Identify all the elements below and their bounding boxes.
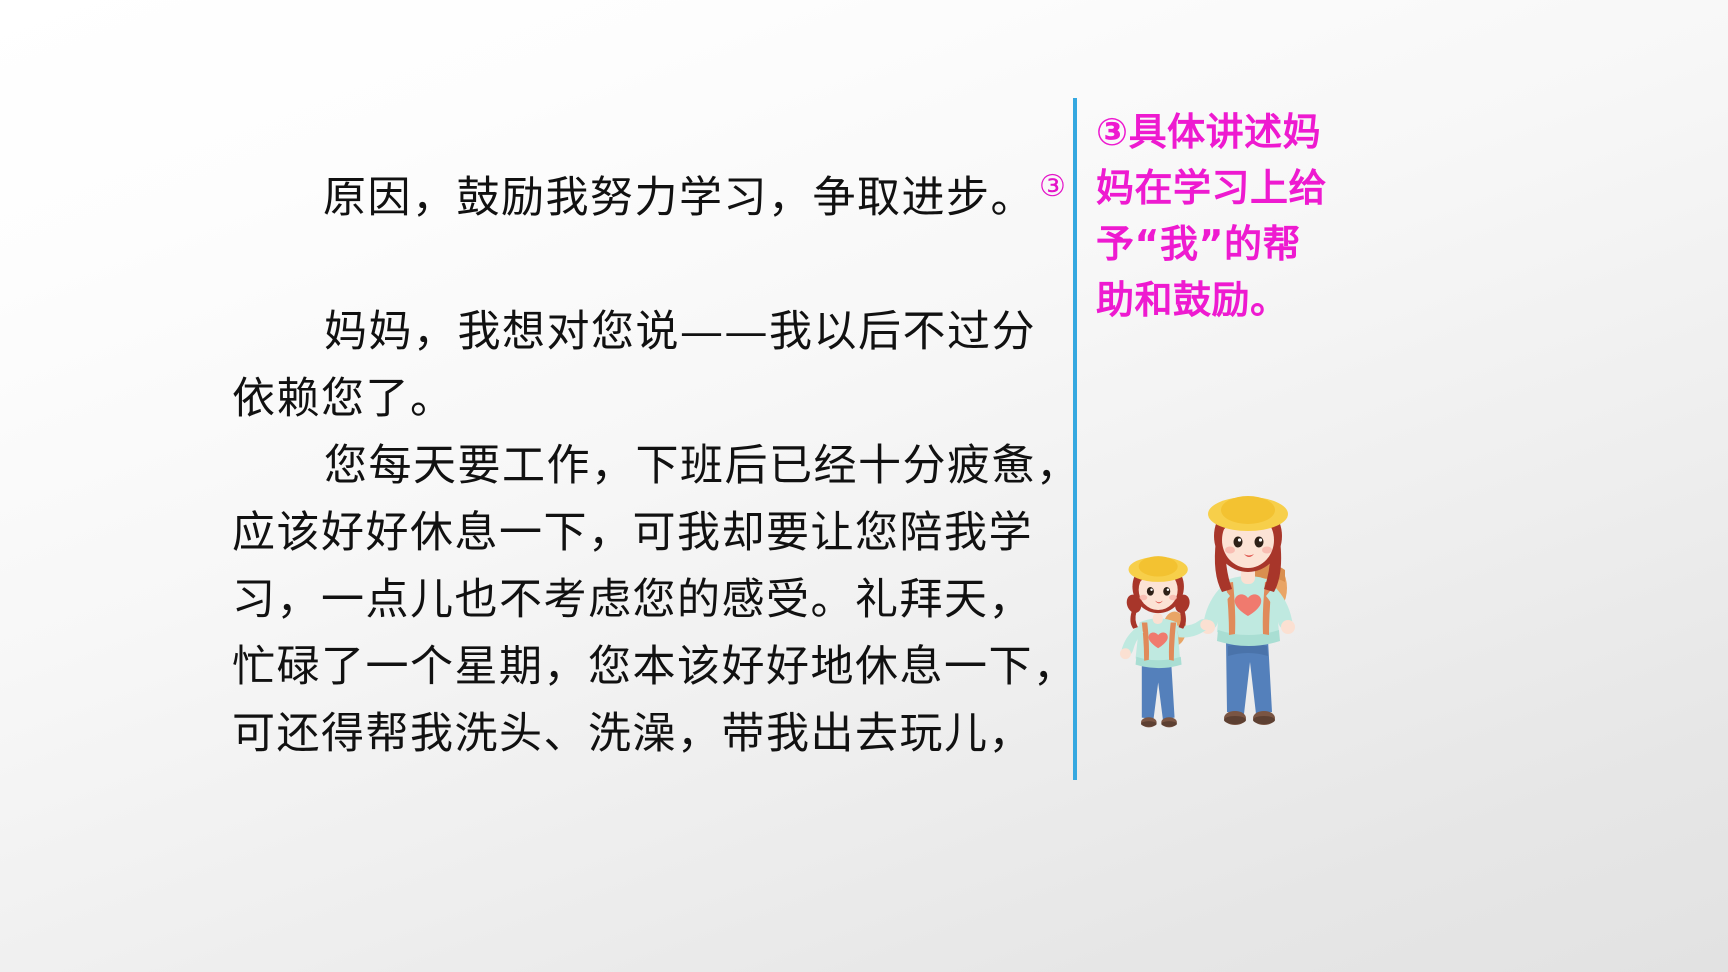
- body-line-text: 原因，鼓励我努力学习，争取进步。: [323, 173, 1035, 223]
- annotation-block: ③具体讲述妈 妈在学习上给 予“我”的帮 助和鼓励。: [1096, 104, 1364, 328]
- vertical-divider: [1073, 98, 1077, 780]
- annotation-line: 助和鼓励。: [1096, 272, 1364, 328]
- body-line: 依赖您了。: [232, 366, 1058, 433]
- annotation-line: ③具体讲述妈: [1096, 104, 1364, 160]
- body-line: 原因，鼓励我努力学习，争取进步。③: [232, 86, 1058, 299]
- child-figure: [1120, 556, 1211, 727]
- body-line: 您每天要工作，下班后已经十分疲惫，: [232, 433, 1058, 500]
- footnote-marker-3-icon: ③: [1039, 169, 1066, 204]
- body-line: 妈妈，我想对您说——我以后不过分: [232, 299, 1058, 366]
- annotation-line: 妈在学习上给: [1096, 160, 1364, 216]
- body-text-block: 原因，鼓励我努力学习，争取进步。③ 妈妈，我想对您说——我以后不过分 依赖您了。…: [232, 86, 1058, 768]
- slide-canvas: 原因，鼓励我努力学习，争取进步。③ 妈妈，我想对您说——我以后不过分 依赖您了。…: [0, 0, 1728, 972]
- annotation-line: 予“我”的帮: [1096, 216, 1364, 272]
- body-line: 可还得帮我洗头、洗澡，带我出去玩儿，: [232, 701, 1058, 768]
- body-line: 应该好好休息一下，可我却要让您陪我学: [232, 500, 1058, 567]
- body-line: 忙碌了一个星期，您本该好好地休息一下，: [232, 634, 1058, 701]
- mother-and-child-illustration: [1118, 470, 1318, 780]
- body-line: 习，一点儿也不考虑您的感受。礼拜天，: [232, 567, 1058, 634]
- mother-figure: [1201, 496, 1295, 725]
